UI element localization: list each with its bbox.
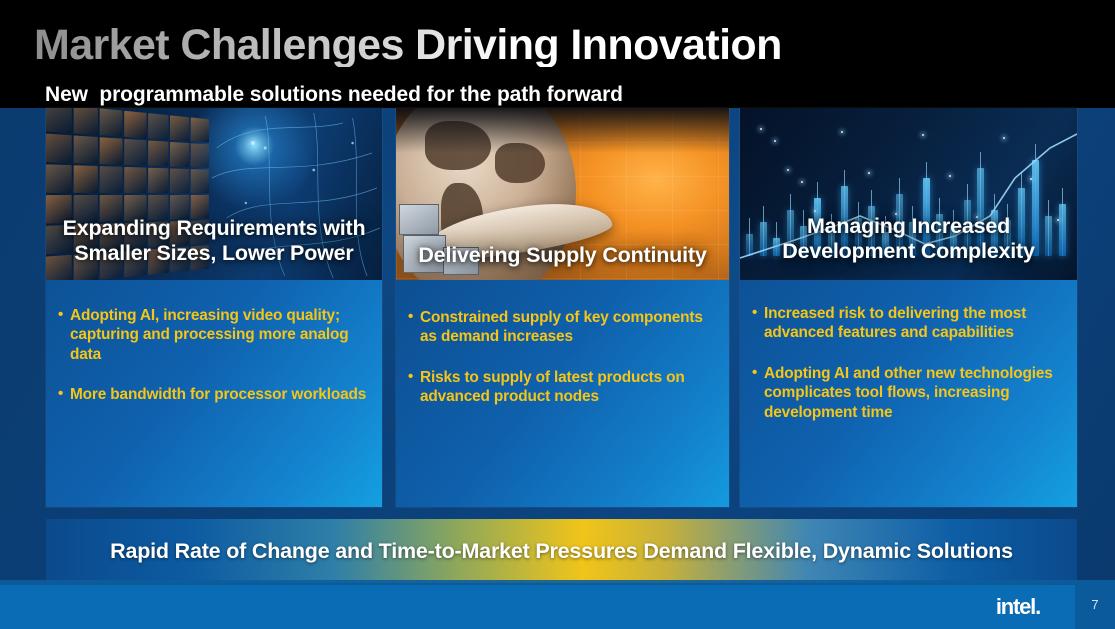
slide-footer-bar: intel. 7: [0, 585, 1115, 629]
cards-container: Expanding Requirements with Smaller Size…: [0, 108, 1115, 508]
list-item: • Adopting AI, increasing video quality;…: [58, 306, 368, 364]
bullet-marker-icon: •: [58, 385, 70, 404]
bullet-text: Risks to supply of latest products on ad…: [420, 368, 715, 407]
card-body-2: • Constrained supply of key components a…: [396, 280, 729, 507]
card-body-1: • Adopting AI, increasing video quality;…: [46, 280, 382, 507]
bullet-text: Increased risk to delivering the most ad…: [764, 304, 1063, 343]
intel-logo: intel.: [996, 594, 1040, 620]
summary-banner-text: Rapid Rate of Change and Time-to-Market …: [110, 539, 1013, 564]
card-expanding-requirements[interactable]: Expanding Requirements with Smaller Size…: [46, 108, 382, 507]
list-item: • Constrained supply of key components a…: [408, 308, 715, 347]
intel-logo-text: intel: [996, 594, 1035, 619]
bullet-list-1: • Adopting AI, increasing video quality;…: [58, 306, 368, 405]
bullet-text: Constrained supply of key components as …: [420, 308, 715, 347]
list-item: • Risks to supply of latest products on …: [408, 368, 715, 407]
bullet-text: More bandwidth for processor workloads: [70, 385, 368, 404]
card-title-2: Delivering Supply Continuity: [396, 243, 729, 268]
footer-divider: [0, 580, 1080, 585]
card-managing-development-complexity[interactable]: Managing Increased Development Complexit…: [740, 108, 1077, 507]
bullet-marker-icon: •: [58, 306, 70, 364]
card-body-3: • Increased risk to delivering the most …: [740, 280, 1077, 507]
summary-banner: Rapid Rate of Change and Time-to-Market …: [46, 519, 1077, 583]
list-item: • Adopting AI and other new technologies…: [752, 364, 1063, 422]
bullet-marker-icon: •: [752, 364, 764, 422]
card-media-1: Expanding Requirements with Smaller Size…: [46, 108, 382, 280]
list-item: • More bandwidth for processor workloads: [58, 385, 368, 404]
list-item: • Increased risk to delivering the most …: [752, 304, 1063, 343]
bullet-marker-icon: •: [408, 308, 420, 347]
page-number-panel: 7: [1075, 580, 1115, 629]
bullet-marker-icon: •: [408, 368, 420, 407]
card-media-3: Managing Increased Development Complexit…: [740, 108, 1077, 280]
card-title-3: Managing Increased Development Complexit…: [740, 214, 1077, 264]
card-title-1: Expanding Requirements with Smaller Size…: [46, 216, 382, 266]
bullet-list-2: • Constrained supply of key components a…: [408, 308, 715, 407]
bullet-list-3: • Increased risk to delivering the most …: [752, 304, 1063, 422]
slide-header: Market Challenges Driving Innovation New…: [0, 0, 1115, 108]
card-delivering-supply-continuity[interactable]: Delivering Supply Continuity • Constrain…: [396, 108, 729, 507]
card-media-2: Delivering Supply Continuity: [396, 108, 729, 280]
page-title: Market Challenges Driving Innovation: [34, 24, 782, 67]
bullet-marker-icon: •: [752, 304, 764, 343]
page-number: 7: [1091, 597, 1098, 612]
bullet-text: Adopting AI, increasing video quality; c…: [70, 306, 368, 364]
intel-logo-dot: .: [1035, 594, 1040, 619]
bullet-text: Adopting AI and other new technologies c…: [764, 364, 1063, 422]
page-subtitle: New programmable solutions needed for th…: [45, 83, 623, 107]
